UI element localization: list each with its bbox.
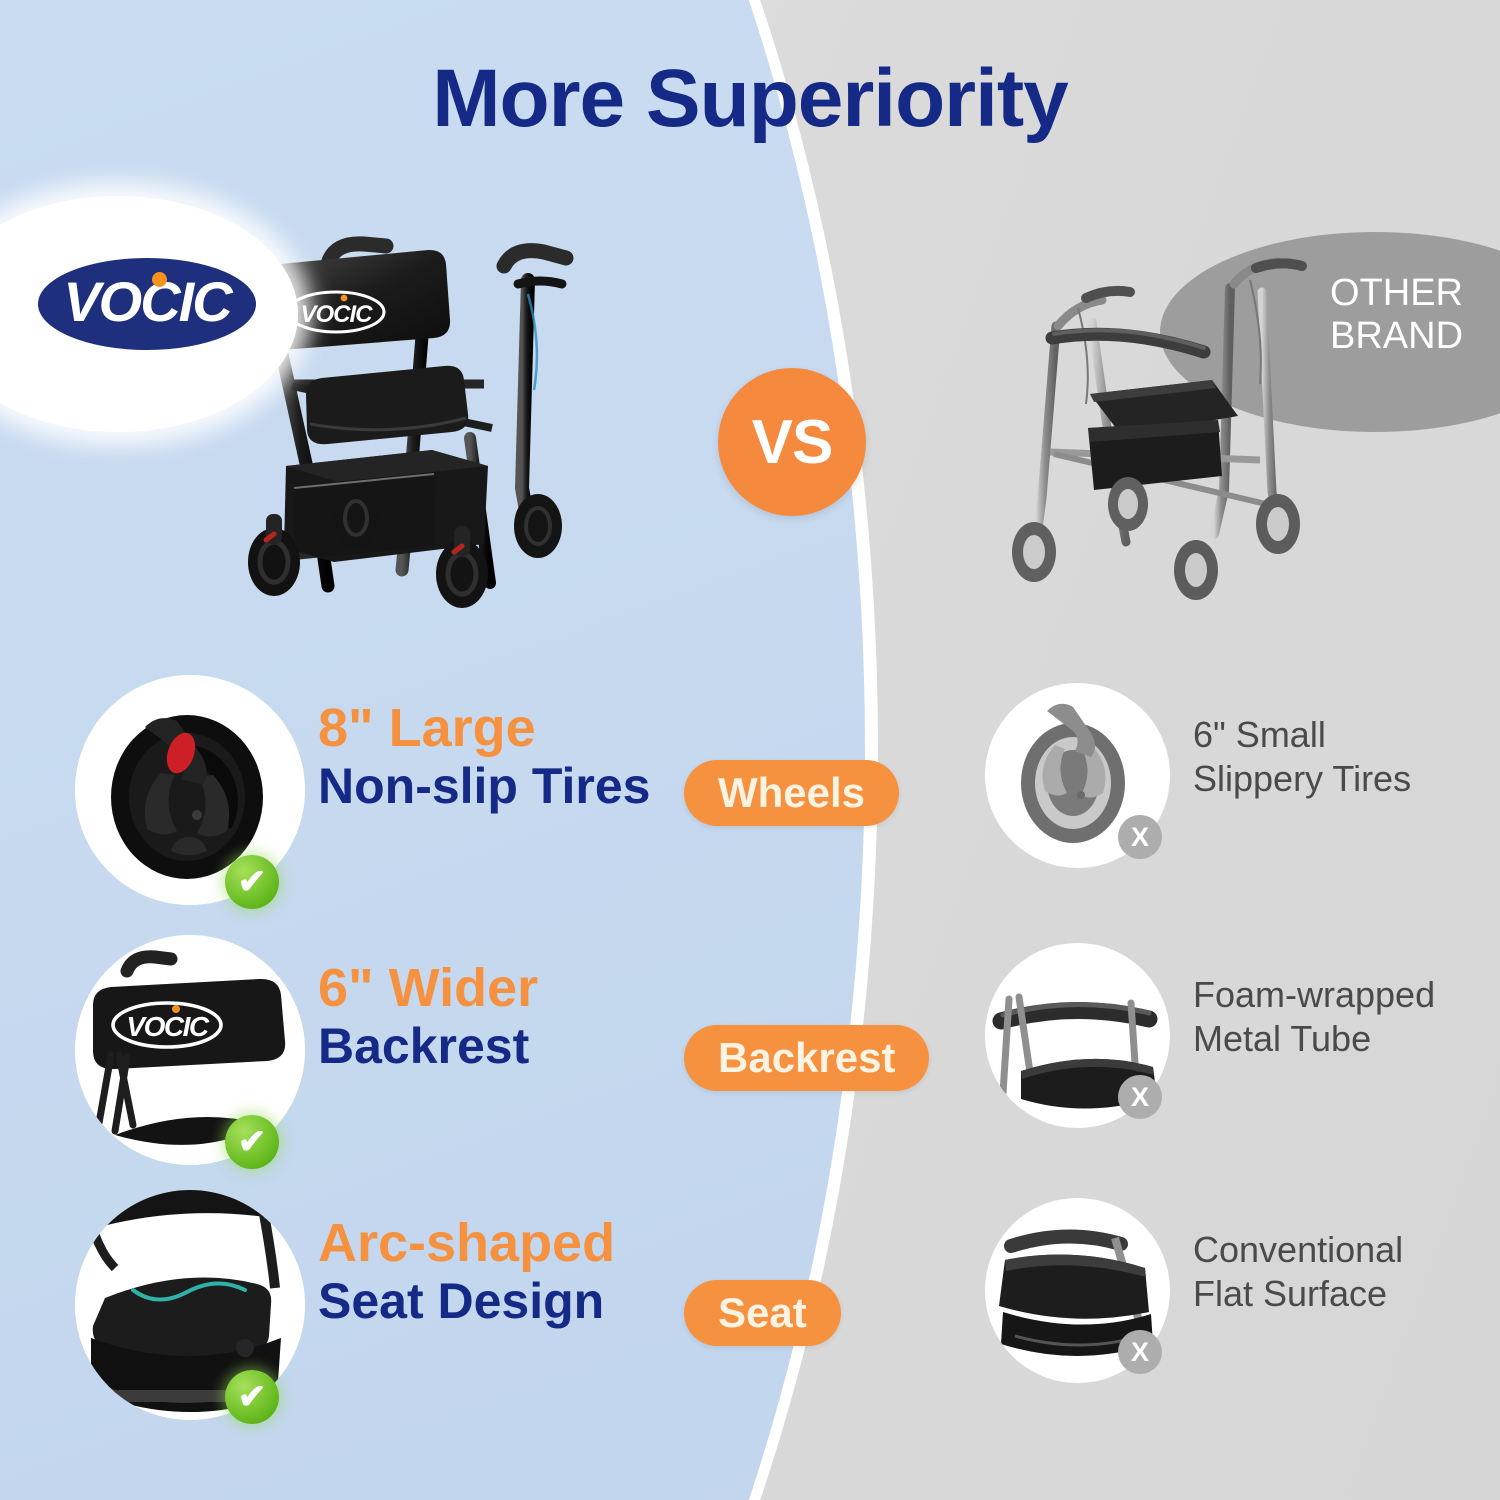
vocic-seat-subline: Seat Design: [318, 1276, 718, 1326]
other-backrest-line2: Metal Tube: [1193, 1017, 1493, 1061]
vocic-wheels-headline: 8" Large: [318, 701, 718, 755]
page-title: More Superiority: [0, 52, 1500, 146]
other-brand-label: OTHER BRAND: [1330, 272, 1500, 357]
vocic-logo-dot-icon: [152, 272, 167, 287]
other-wheels-line2: Slippery Tires: [1193, 757, 1493, 801]
vocic-seat-headline: Arc-shaped: [318, 1216, 718, 1270]
vs-badge-label: VS: [752, 407, 833, 478]
svg-text:VOCIC: VOCIC: [300, 301, 373, 328]
other-seat-line1: Conventional: [1193, 1228, 1493, 1272]
vocic-backrest-text: 6" Wider Backrest: [318, 961, 718, 1071]
vocic-seat-text: Arc-shaped Seat Design: [318, 1216, 718, 1326]
category-pill-seat: Seat: [684, 1280, 841, 1346]
other-backrest-text: Foam-wrapped Metal Tube: [1193, 973, 1493, 1061]
vocic-logo-oval: VOCIC: [38, 258, 256, 350]
vocic-logo-text: VOCIC: [63, 274, 230, 330]
category-pill-backrest: Backrest: [684, 1025, 929, 1091]
other-seat-line2: Flat Surface: [1193, 1272, 1493, 1316]
check-icon: ✔: [225, 1115, 279, 1169]
vocic-wheels-text: 8" Large Non-slip Tires: [318, 701, 718, 811]
other-wheels-line1: 6" Small: [1193, 713, 1493, 757]
other-seat-text: Conventional Flat Surface: [1193, 1228, 1493, 1316]
vocic-rollator-image: VOCIC: [232, 188, 592, 608]
cross-icon: X: [1118, 1330, 1162, 1374]
other-wheels-text: 6" Small Slippery Tires: [1193, 713, 1493, 801]
check-icon: ✔: [225, 1370, 279, 1424]
svg-text:VOCIC: VOCIC: [126, 1011, 209, 1042]
vs-badge: VS: [718, 368, 866, 516]
other-brand-rollator-image: [998, 222, 1328, 612]
category-pill-wheels: Wheels: [684, 760, 899, 826]
other-backrest-line1: Foam-wrapped: [1193, 973, 1493, 1017]
other-brand-label-line1: OTHER: [1330, 272, 1500, 315]
vocic-backrest-headline: 6" Wider: [318, 961, 718, 1015]
vocic-wheels-subline: Non-slip Tires: [318, 761, 718, 811]
infographic-stage: More Superiority OTHER BRAND: [0, 0, 1500, 1500]
cross-icon: X: [1118, 815, 1162, 859]
check-icon: ✔: [225, 855, 279, 909]
other-brand-label-line2: BRAND: [1330, 315, 1500, 358]
vocic-backrest-subline: Backrest: [318, 1021, 718, 1071]
cross-icon: X: [1118, 1075, 1162, 1119]
